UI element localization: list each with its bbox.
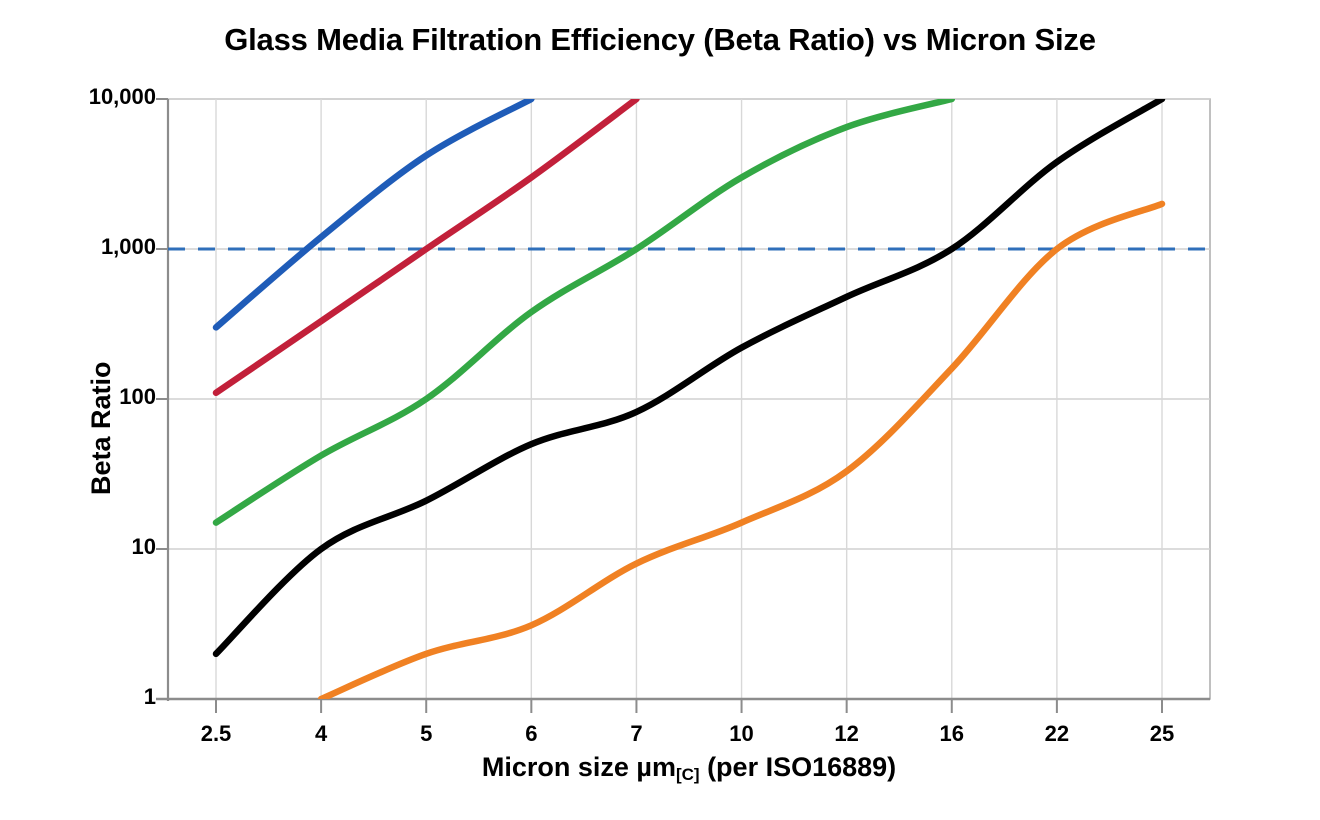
plot-area xyxy=(0,0,1320,820)
chart-container: Glass Media Filtration Efficiency (Beta … xyxy=(0,0,1320,820)
